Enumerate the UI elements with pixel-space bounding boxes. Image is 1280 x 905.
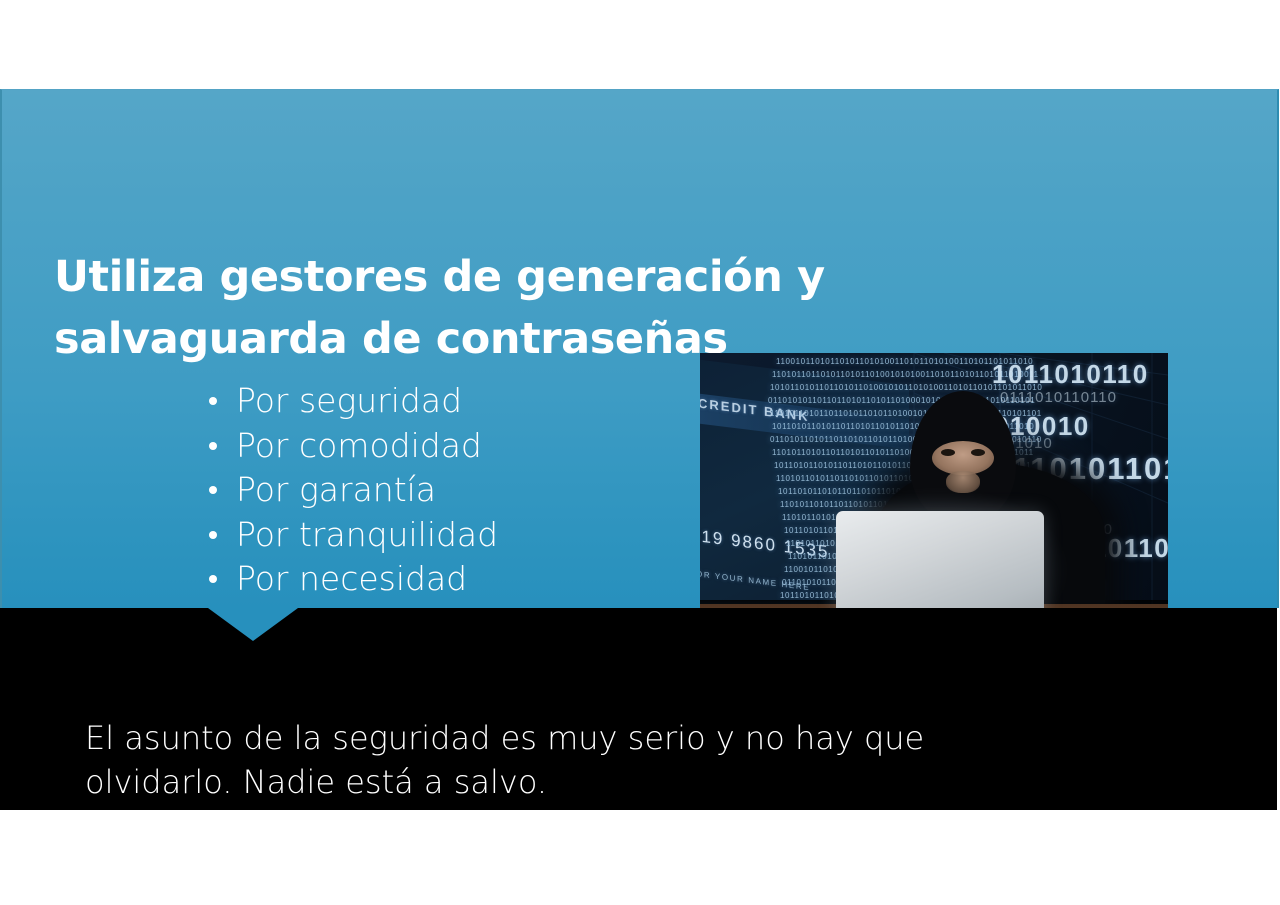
list-item: Por comodidad (207, 424, 637, 469)
list-item: Por tranquilidad (207, 513, 637, 558)
list-item: Por necesidad (207, 557, 637, 602)
callout-tail-pointer (208, 608, 298, 641)
list-item-label: Por garantía (236, 470, 436, 509)
list-item-label: Por comodidad (236, 426, 482, 465)
list-item-label: Por necesidad (236, 559, 467, 598)
binary-large-row: 1011010110 (992, 359, 1149, 390)
bullet-dot-icon (209, 531, 217, 539)
hacker-right-eye (971, 449, 985, 456)
page-title: Utiliza gestores de generación y salvagu… (54, 246, 954, 370)
binary-row: 0110101011011011010110101101000101011010… (768, 396, 1035, 405)
hacker-eye-slit (932, 441, 994, 475)
hacker-left-eye (941, 449, 955, 456)
caption-text: El asunto de la seguridad es muy serio y… (85, 716, 1085, 804)
binary-large-row: 0111010110110 (1000, 389, 1117, 406)
bullet-dot-icon (209, 442, 217, 450)
list-item-label: Por seguridad (236, 381, 462, 420)
list-item-label: Por tranquilidad (236, 515, 498, 554)
bullet-dot-icon (209, 397, 217, 405)
bullet-list: Por seguridad Por comodidad Por garantía… (207, 379, 637, 647)
bullet-dot-icon (209, 486, 217, 494)
blue-content-panel: Utiliza gestores de generación y salvagu… (0, 89, 1279, 608)
list-item: Por garantía (207, 468, 637, 513)
hacker-mouth-slit (946, 471, 980, 493)
bullet-dot-icon (209, 575, 217, 583)
list-item: Por seguridad (207, 379, 637, 424)
slide-canvas: Utiliza gestores de generación y salvagu… (0, 0, 1280, 905)
